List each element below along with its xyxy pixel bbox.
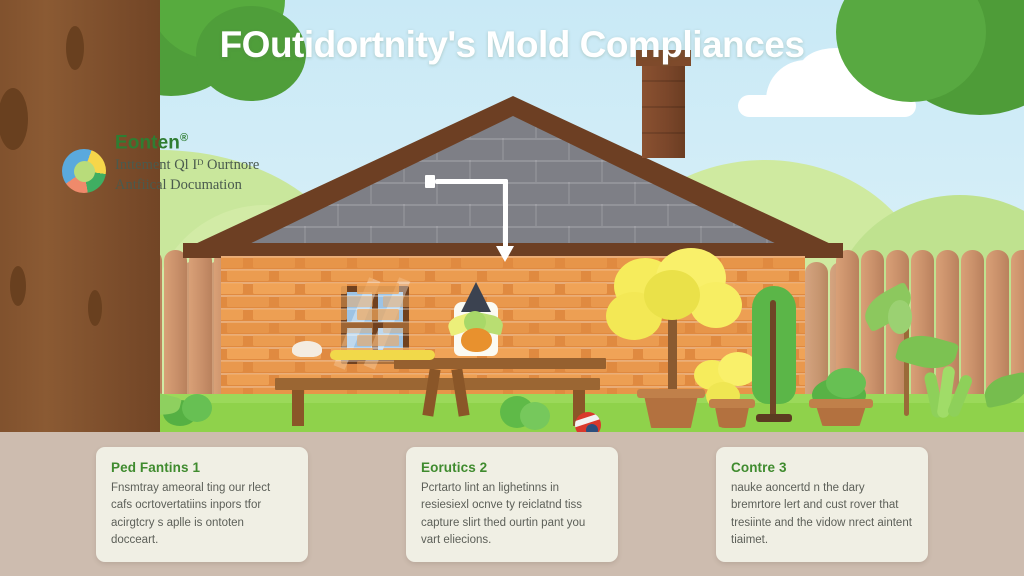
- chimney-course: [642, 80, 685, 82]
- card-body: Pcrtarto lint an lighetinns in resiesiex…: [421, 480, 603, 550]
- shingle-seam: [601, 204, 603, 226]
- brick: [383, 322, 425, 333]
- tree-knot: [88, 290, 102, 326]
- shingle-seam: [403, 116, 405, 138]
- gable-shingles: [241, 116, 785, 248]
- brick: [305, 309, 347, 320]
- brick: [799, 374, 805, 385]
- brick: [539, 270, 581, 281]
- brick: [383, 270, 425, 281]
- card-body: nauke aoncertd n the dary bremrtore lert…: [731, 480, 913, 550]
- shingle-seam: [337, 116, 339, 138]
- tagline-line-2: Antfiical Documation: [115, 176, 259, 196]
- shingle-seam: [634, 182, 636, 204]
- brick: [305, 283, 347, 294]
- brick: [565, 257, 607, 268]
- brick: [799, 322, 805, 333]
- shingle-seam: [535, 204, 537, 226]
- seed-pile: [330, 350, 435, 360]
- brick: [331, 322, 373, 333]
- brick: [773, 257, 805, 268]
- shingle-course: [241, 226, 785, 228]
- brick: [331, 296, 373, 307]
- shingle-course: [241, 138, 785, 140]
- card-heading: Contre 3: [731, 460, 913, 475]
- brick: [799, 296, 805, 307]
- shrub: [826, 368, 866, 398]
- card-heading: Eorutics 2: [421, 460, 603, 475]
- brick: [279, 296, 321, 307]
- brick: [409, 257, 451, 268]
- shingle-seam: [733, 160, 735, 182]
- shingle-course: [241, 182, 785, 184]
- chimney-course: [642, 106, 685, 108]
- brick: [799, 348, 805, 359]
- brand-name-text: Eonten: [115, 132, 180, 153]
- card-heading: Ped Fantins 1: [111, 460, 293, 475]
- shingle-seam: [568, 182, 570, 204]
- feature-card[interactable]: Contre 3 nauke aoncertd n the dary bremr…: [716, 447, 928, 562]
- tree-knot: [10, 266, 26, 306]
- brick: [435, 270, 477, 281]
- shingle-seam: [436, 182, 438, 204]
- brick: [513, 257, 555, 268]
- page-title: FOutidortnity's Mold Compliances: [0, 24, 1024, 66]
- brick: [513, 309, 555, 320]
- brick: [305, 257, 347, 268]
- brick: [357, 361, 399, 372]
- shingle-seam: [601, 116, 603, 138]
- brick: [539, 296, 581, 307]
- feature-cards: Ped Fantins 1 Fnsmtray ameoral ting our …: [0, 447, 1024, 562]
- chimney-course: [642, 132, 685, 134]
- leaf: [888, 300, 912, 334]
- infographic-canvas: FOutidortnity's Mold Compliances Eonten®…: [0, 0, 1024, 576]
- brand-name: Eonten®: [115, 132, 259, 154]
- brick: [643, 348, 685, 359]
- brick: [357, 309, 399, 320]
- plant-trunk: [770, 300, 776, 418]
- shingle-seam: [502, 138, 504, 160]
- shingle-seam: [766, 182, 768, 204]
- brick: [357, 335, 399, 346]
- brand-header: Eonten® Inttement Ql Iᴰ Ourtnore Antfiic…: [62, 130, 259, 195]
- brick: [513, 335, 555, 346]
- registered-mark-icon: ®: [180, 132, 188, 144]
- shingle-seam: [271, 116, 273, 138]
- large-oak-tree: [0, 0, 260, 440]
- brick: [565, 283, 607, 294]
- brick: [747, 270, 789, 281]
- shingle-course: [241, 160, 785, 162]
- cabbage: [520, 402, 550, 430]
- shingle-seam: [766, 138, 768, 160]
- brick: [721, 257, 763, 268]
- shingle-seam: [733, 116, 735, 138]
- brick: [799, 270, 805, 281]
- shingle-seam: [337, 204, 339, 226]
- plant-base: [756, 414, 792, 422]
- brick: [357, 257, 399, 268]
- shingle-seam: [370, 138, 372, 160]
- brick: [357, 283, 399, 294]
- brick: [383, 296, 425, 307]
- brick: [409, 335, 451, 346]
- shingle-seam: [271, 160, 273, 182]
- shingle-seam: [667, 204, 669, 226]
- brick: [539, 322, 581, 333]
- shingle-seam: [304, 138, 306, 160]
- brick: [331, 270, 373, 281]
- brick: [617, 361, 659, 372]
- card-body: Fnsmtray ameoral ting our rlect cafs ocr…: [111, 480, 293, 550]
- brick: [409, 283, 451, 294]
- brick: [565, 335, 607, 346]
- brick: [279, 322, 321, 333]
- brick: [513, 283, 555, 294]
- color-ring-logo-icon: [62, 149, 106, 193]
- flower-pot: [712, 404, 752, 428]
- tagline-line-1: Inttement Ql Iᴰ Ourtnore: [115, 156, 259, 176]
- brick: [643, 374, 685, 385]
- shingle-seam: [469, 204, 471, 226]
- feature-card[interactable]: Eorutics 2 Pcrtarto lint an lighetinns i…: [406, 447, 618, 562]
- shingle-seam: [370, 182, 372, 204]
- shingle-seam: [601, 160, 603, 182]
- brick: [565, 309, 607, 320]
- brick: [305, 361, 347, 372]
- foliage-blob: [644, 270, 700, 320]
- garden-gnome-decoration: [448, 284, 504, 358]
- shingle-seam: [700, 138, 702, 160]
- brick: [409, 309, 451, 320]
- flower-pot: [640, 394, 702, 428]
- brick: [487, 270, 529, 281]
- brick: [279, 270, 321, 281]
- small-animal: [292, 341, 322, 357]
- brick-chimney: [642, 54, 685, 158]
- bench-leg: [292, 390, 304, 426]
- feature-card[interactable]: Ped Fantins 1 Fnsmtray ameoral ting our …: [96, 447, 308, 562]
- shingle-seam: [403, 204, 405, 226]
- flower-pot: [812, 404, 870, 426]
- shingle-seam: [535, 160, 537, 182]
